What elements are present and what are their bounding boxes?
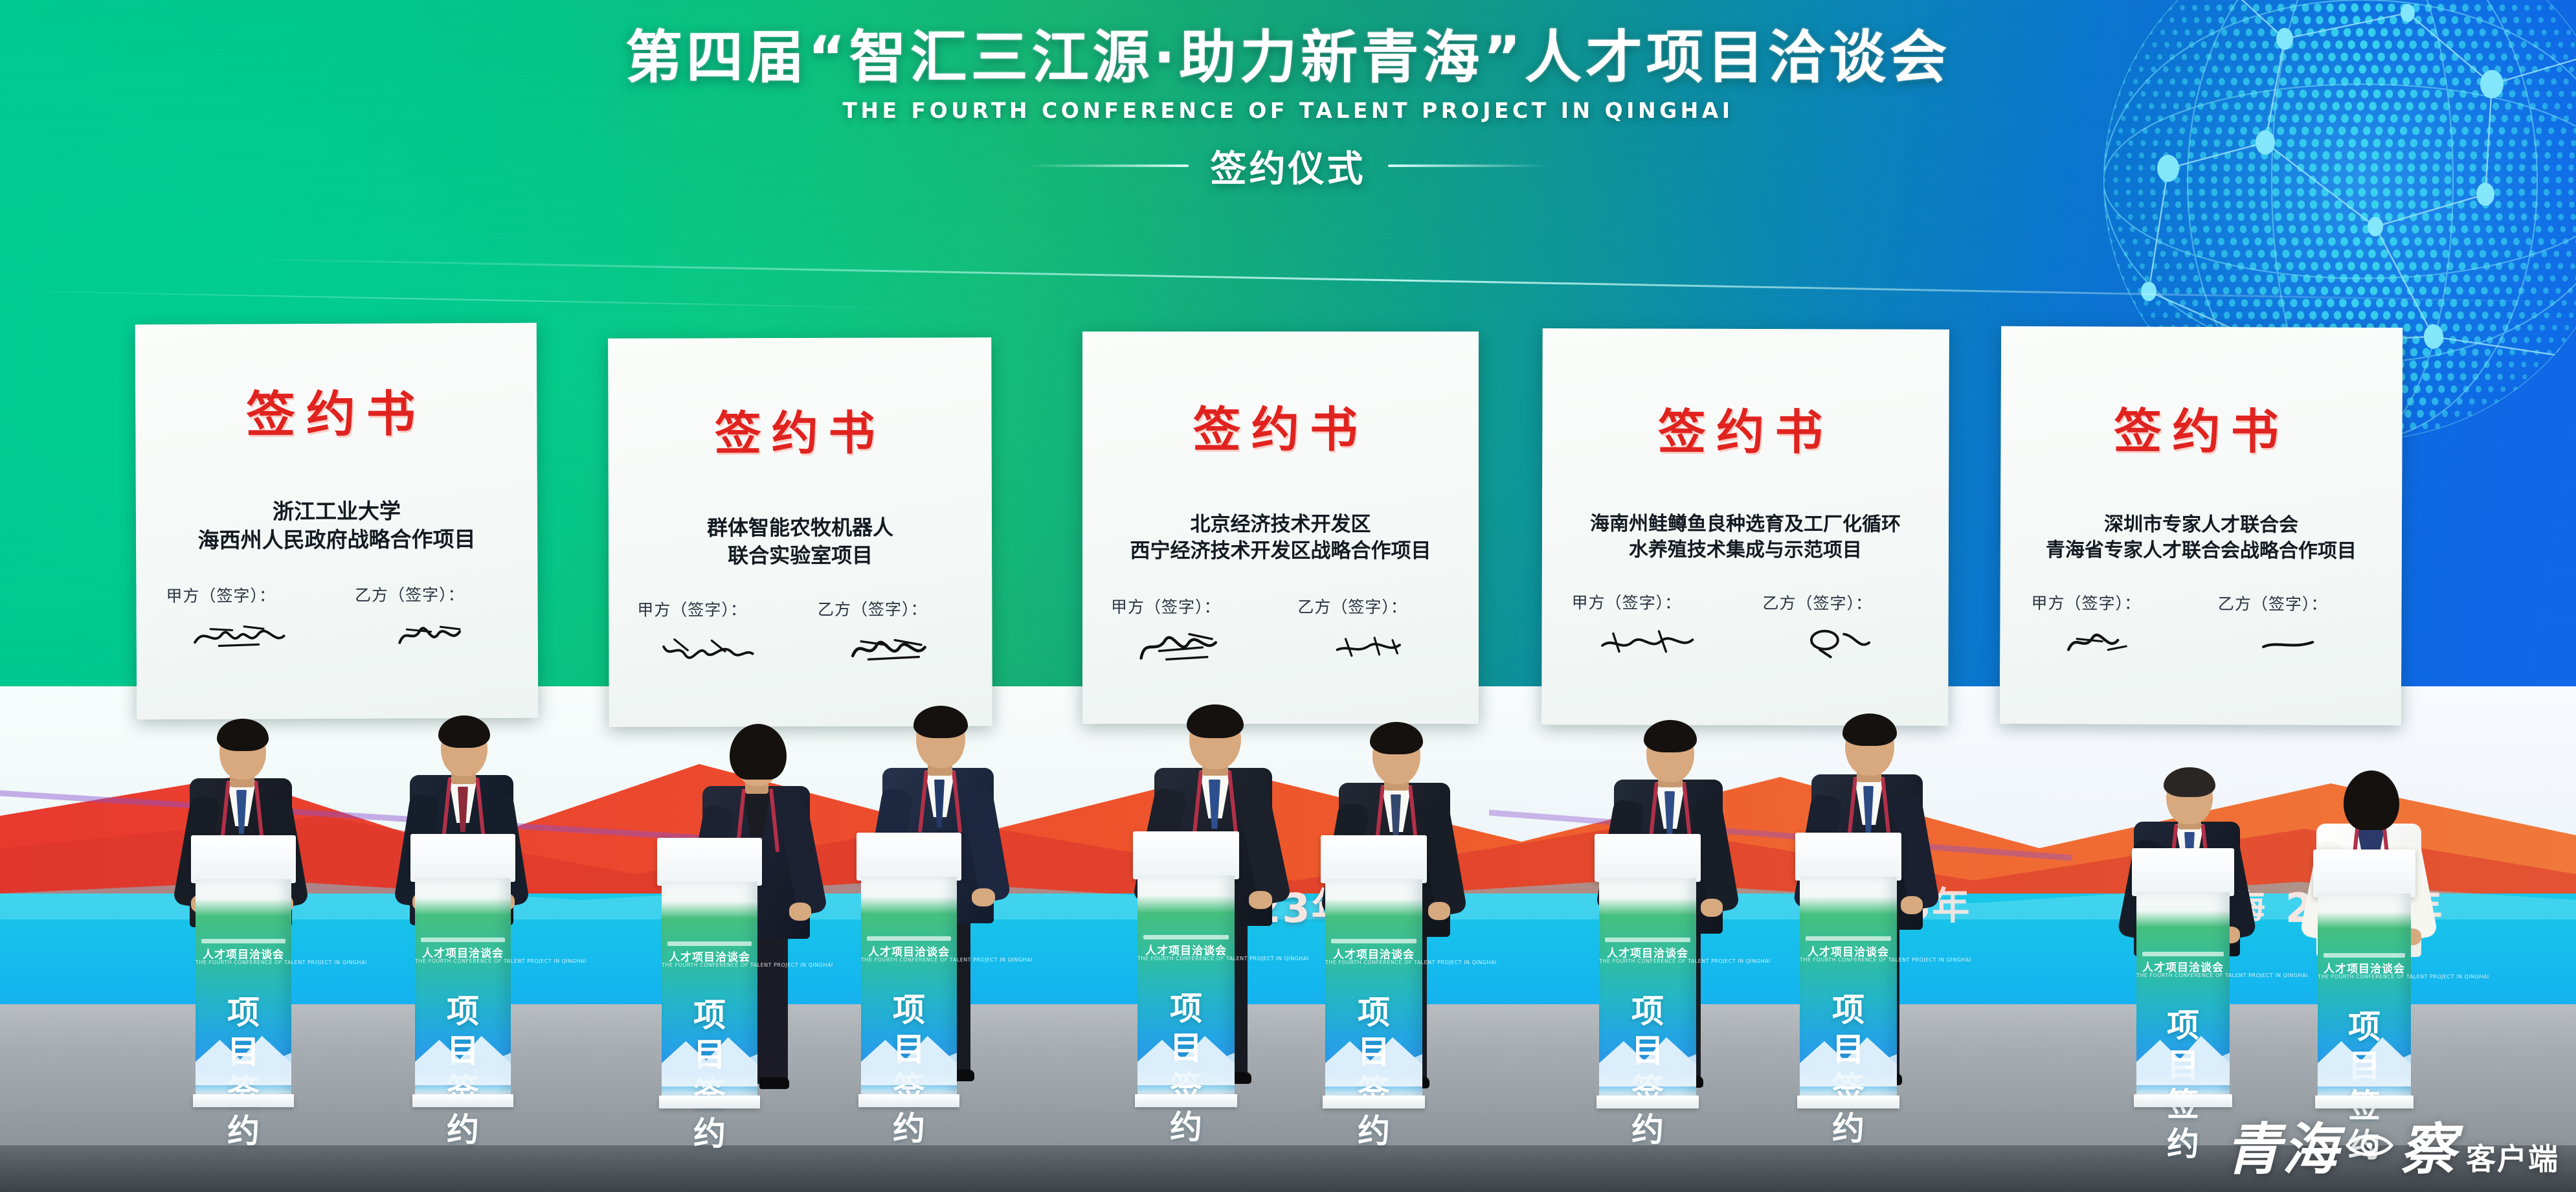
party-a-column: 甲方（签字）： xyxy=(637,597,791,666)
podium-brand-rule xyxy=(1806,936,1891,941)
person-hair xyxy=(217,719,269,751)
podium-top xyxy=(1795,833,1901,881)
podium-top xyxy=(1595,834,1701,882)
podium-body: 人才项目洽谈会 THE FOURTH CONFERENCE OF TALENT … xyxy=(1800,877,1897,1098)
party-b-signature xyxy=(355,617,516,651)
party-b-label: 乙方（签字）： xyxy=(1297,594,1457,618)
signing-board: 签约书 群体智能农牧机器人 联合实验室项目 甲方（签字）： 乙方（签字）： xyxy=(608,337,992,727)
project-line-1: 群体智能农牧机器人 xyxy=(609,513,992,542)
podium-brand-english: THE FOURTH CONFERENCE OF TALENT PROJECT … xyxy=(2318,974,2411,980)
podium-body: 人才项目洽谈会 THE FOURTH CONFERENCE OF TALENT … xyxy=(415,878,511,1097)
person-hair xyxy=(2164,767,2215,797)
podium-char-4: 约 xyxy=(861,1109,957,1149)
signing-board: 签约书 深圳市专家人才联合会 青海省专家人才联合会战略合作项目 甲方（签字）： … xyxy=(2000,326,2402,725)
party-b-column: 乙方（签字）： xyxy=(2218,591,2377,660)
signing-board: 签约书 海南州鲑鳟鱼良种选育及工厂化循环 水养殖技术集成与示范项目 甲方（签字）… xyxy=(1541,328,1949,726)
podium-top xyxy=(191,835,296,883)
podium-brand-rule xyxy=(201,939,286,943)
podium-brand-english: THE FOURTH CONFERENCE OF TALENT PROJECT … xyxy=(1800,957,1897,963)
party-a-label: 甲方（签字）： xyxy=(1572,590,1734,614)
podium: 人才项目洽谈会 THE FOURTH CONFERENCE OF TALENT … xyxy=(1137,831,1235,1107)
podium-base xyxy=(1323,1096,1425,1108)
podium: 人才项目洽谈会 THE FOURTH CONFERENCE OF TALENT … xyxy=(1325,835,1422,1108)
party-a-label: 甲方（签字）： xyxy=(1111,594,1270,618)
podium: 人才项目洽谈会 THE FOURTH CONFERENCE OF TALENT … xyxy=(861,833,957,1107)
project-line-1: 海南州鲑鳟鱼良种选育及工厂化循环 xyxy=(1542,511,1949,538)
party-b-label: 乙方（签字）： xyxy=(1762,590,1925,614)
person-hair xyxy=(1370,722,1423,754)
podium-brand-rule xyxy=(421,938,505,942)
board-project-name: 北京经济技术开发区 西宁经济技术开发区战略合作项目 xyxy=(1082,512,1479,565)
podium-mountain-graphic xyxy=(2136,1023,2230,1085)
party-a-signature xyxy=(1571,625,1734,659)
podium-base xyxy=(1596,1096,1699,1108)
podium-base xyxy=(193,1094,294,1107)
podium-mountain-graphic xyxy=(1325,1024,1422,1086)
podium-base xyxy=(659,1096,760,1108)
podium-brand-english: THE FOURTH CONFERENCE OF TALENT PROJECT … xyxy=(1325,960,1422,965)
podium: 人才项目洽谈会 THE FOURTH CONFERENCE OF TALENT … xyxy=(2136,848,2230,1107)
podium-body: 人才项目洽谈会 THE FOURTH CONFERENCE OF TALENT … xyxy=(1137,875,1235,1097)
project-line-2: 海西州人民政府战略合作项目 xyxy=(136,525,537,556)
podium-char-4: 约 xyxy=(1800,1109,1897,1149)
podium-body: 人才项目洽谈会 THE FOURTH CONFERENCE OF TALENT … xyxy=(1599,878,1696,1098)
podium-top xyxy=(1133,831,1239,879)
project-line-1: 北京经济技术开发区 xyxy=(1082,512,1479,538)
party-a-column: 甲方（签字）： xyxy=(2031,590,2190,660)
watermark-suffix: 客户端 xyxy=(2466,1144,2559,1174)
podium-brand-rule xyxy=(867,936,951,941)
podium-brand-english: THE FOURTH CONFERENCE OF TALENT PROJECT … xyxy=(1599,958,1696,964)
person-hair xyxy=(2344,770,2399,830)
podium-mountain-graphic xyxy=(861,1023,957,1085)
podium-mountain-graphic xyxy=(1137,1023,1235,1085)
board-title: 签约书 xyxy=(135,374,537,447)
podium-brand-english: THE FOURTH CONFERENCE OF TALENT PROJECT … xyxy=(2136,973,2230,978)
podium-top xyxy=(2132,848,2234,896)
podium-brand-english: THE FOURTH CONFERENCE OF TALENT PROJECT … xyxy=(415,958,511,964)
party-b-label: 乙方（签字）： xyxy=(818,596,971,620)
signing-ceremony-photo: 第四届“智汇三江源·助力新青海”人才项目洽谈会 THE FOURTH CONFE… xyxy=(0,0,2576,1192)
board-project-name: 群体智能农牧机器人 联合实验室项目 xyxy=(609,513,992,570)
podium-brand-rule xyxy=(1331,939,1417,943)
board-project-name: 海南州鲑鳟鱼良种选育及工厂化循环 水养殖技术集成与示范项目 xyxy=(1542,511,1949,563)
podium-base xyxy=(858,1094,959,1107)
podium-brand-rule xyxy=(2142,952,2224,956)
board-project-name: 浙江工业大学 海西州人民政府战略合作项目 xyxy=(136,497,537,555)
party-a-signature xyxy=(2031,625,2190,660)
podium-body: 人才项目洽谈会 THE FOURTH CONFERENCE OF TALENT … xyxy=(861,877,957,1097)
podium-brand-rule xyxy=(2324,953,2406,958)
party-a-column: 甲方（签字）： xyxy=(1571,590,1734,659)
party-b-signature xyxy=(818,631,971,666)
watermark-brand: 青海 xyxy=(2225,1122,2339,1178)
signature-row: 甲方（签字）： 乙方（签字）： xyxy=(637,596,971,666)
watermark-brand-2: 察 xyxy=(2400,1122,2457,1178)
podium-mountain-graphic xyxy=(1599,1024,1696,1086)
podium-body: 人才项目洽谈会 THE FOURTH CONFERENCE OF TALENT … xyxy=(662,882,757,1098)
board-title: 签约书 xyxy=(2000,392,2402,463)
party-b-signature xyxy=(1762,625,1925,660)
party-b-column: 乙方（签字）： xyxy=(1762,590,1925,660)
podium-base xyxy=(1135,1094,1237,1107)
podium-brand-rule xyxy=(667,941,752,946)
party-a-column: 甲方（签字）： xyxy=(166,583,327,652)
podium-top xyxy=(857,833,961,881)
podium-base xyxy=(1797,1096,1899,1108)
board-project-name: 深圳市专家人才联合会 青海省专家人才联合会战略合作项目 xyxy=(2000,512,2402,565)
podium-brand-english: THE FOURTH CONFERENCE OF TALENT PROJECT … xyxy=(196,960,291,965)
person-hair xyxy=(730,724,787,780)
podium-char-4: 约 xyxy=(196,1112,291,1151)
podium: 人才项目洽谈会 THE FOURTH CONFERENCE OF TALENT … xyxy=(2318,849,2411,1108)
podium-char-4: 约 xyxy=(1325,1112,1422,1151)
party-b-column: 乙方（签字）： xyxy=(1297,594,1457,663)
party-a-signature xyxy=(1111,629,1270,663)
podium-body: 人才项目洽谈会 THE FOURTH CONFERENCE OF TALENT … xyxy=(1325,879,1422,1098)
person-hand xyxy=(1901,896,1923,914)
podium-mountain-graphic xyxy=(2318,1024,2411,1086)
person-hand xyxy=(789,903,811,921)
party-a-signature xyxy=(637,632,790,666)
person-hand xyxy=(972,888,995,906)
person-hair xyxy=(438,715,490,748)
party-b-signature xyxy=(1297,629,1457,663)
podium-base xyxy=(2134,1094,2232,1107)
party-a-column: 甲方（签字）： xyxy=(1111,594,1270,663)
podium-char-4: 约 xyxy=(415,1110,511,1150)
podium-mountain-graphic xyxy=(662,1024,757,1086)
podium-char-4: 约 xyxy=(662,1114,757,1154)
board-title: 签约书 xyxy=(608,394,991,464)
party-b-column: 乙方（签字）： xyxy=(818,596,972,666)
party-a-signature xyxy=(166,618,328,652)
podium-brand-rule xyxy=(1605,938,1690,942)
project-line-2: 水养殖技术集成与示范项目 xyxy=(1542,537,1949,564)
party-b-column: 乙方（签字）： xyxy=(355,582,516,651)
podium-top xyxy=(1321,835,1427,883)
person-hand xyxy=(1701,899,1723,917)
podium-top xyxy=(2313,849,2415,897)
podium-char-4: 约 xyxy=(1599,1110,1696,1150)
person-hair xyxy=(1842,714,1897,746)
signature-row: 甲方（签字）： 乙方（签字）： xyxy=(2031,590,2377,660)
person-shoe xyxy=(759,1077,789,1089)
podium-brand-english: THE FOURTH CONFERENCE OF TALENT PROJECT … xyxy=(662,962,757,968)
signing-board: 签约书 浙江工业大学 海西州人民政府战略合作项目 甲方（签字）： 乙方（签字）： xyxy=(135,323,539,720)
podium: 人才项目洽谈会 THE FOURTH CONFERENCE OF TALENT … xyxy=(1599,834,1696,1108)
board-title: 签约书 xyxy=(1082,391,1479,460)
podium-body: 人才项目洽谈会 THE FOURTH CONFERENCE OF TALENT … xyxy=(196,879,291,1097)
signature-row: 甲方（签字）： 乙方（签字）： xyxy=(166,582,515,652)
podium: 人才项目洽谈会 THE FOURTH CONFERENCE OF TALENT … xyxy=(1800,833,1897,1108)
podium-body: 人才项目洽谈会 THE FOURTH CONFERENCE OF TALENT … xyxy=(2318,894,2411,1098)
project-line-1: 浙江工业大学 xyxy=(136,497,537,527)
project-line-1: 深圳市专家人才联合会 xyxy=(2000,512,2402,539)
podium-top xyxy=(410,834,515,882)
podium-mountain-graphic xyxy=(196,1023,291,1085)
person-hand xyxy=(1249,891,1272,909)
podium-char-4: 约 xyxy=(2136,1125,2230,1164)
podium-mountain-graphic xyxy=(1800,1024,1897,1086)
podium: 人才项目洽谈会 THE FOURTH CONFERENCE OF TALENT … xyxy=(662,838,757,1108)
party-a-label: 甲方（签字）： xyxy=(637,597,790,621)
person-hair xyxy=(913,706,968,738)
watermark: 青海 察 客户端 xyxy=(2225,1122,2559,1178)
party-b-signature xyxy=(2218,626,2377,660)
person-hair xyxy=(1644,720,1697,752)
podium-mountain-graphic xyxy=(415,1023,511,1085)
signing-board: 签约书 北京经济技术开发区 西宁经济技术开发区战略合作项目 甲方（签字）： 乙方… xyxy=(1082,332,1479,724)
party-a-label: 甲方（签字）： xyxy=(2031,590,2190,614)
podium-brand-english: THE FOURTH CONFERENCE OF TALENT PROJECT … xyxy=(861,957,957,963)
party-a-label: 甲方（签字）： xyxy=(166,583,327,607)
podium-top xyxy=(657,838,762,886)
project-line-2: 西宁经济技术开发区战略合作项目 xyxy=(1082,538,1479,565)
podium-base xyxy=(2315,1096,2414,1108)
podium-char-4: 约 xyxy=(1137,1108,1235,1147)
project-line-2: 联合实验室项目 xyxy=(609,541,992,570)
podium-brand-english: THE FOURTH CONFERENCE OF TALENT PROJECT … xyxy=(1137,956,1235,961)
podium: 人才项目洽谈会 THE FOURTH CONFERENCE OF TALENT … xyxy=(196,835,291,1107)
party-b-label: 乙方（签字）： xyxy=(355,582,516,606)
person-hand xyxy=(1428,902,1450,920)
project-line-2: 青海省专家人才联合会战略合作项目 xyxy=(2000,537,2402,565)
eye-icon xyxy=(2346,1130,2393,1160)
party-b-label: 乙方（签字）： xyxy=(2218,591,2377,615)
person-hair xyxy=(1187,704,1244,738)
podium: 人才项目洽谈会 THE FOURTH CONFERENCE OF TALENT … xyxy=(415,834,511,1107)
podium-body: 人才项目洽谈会 THE FOURTH CONFERENCE OF TALENT … xyxy=(2136,892,2230,1097)
podium-base xyxy=(412,1094,513,1107)
podium-brand-rule xyxy=(1143,935,1229,939)
signature-row: 甲方（签字）： 乙方（签字）： xyxy=(1111,594,1457,663)
signature-row: 甲方（签字）： 乙方（签字）： xyxy=(1571,590,1925,659)
board-title: 签约书 xyxy=(1542,393,1949,464)
